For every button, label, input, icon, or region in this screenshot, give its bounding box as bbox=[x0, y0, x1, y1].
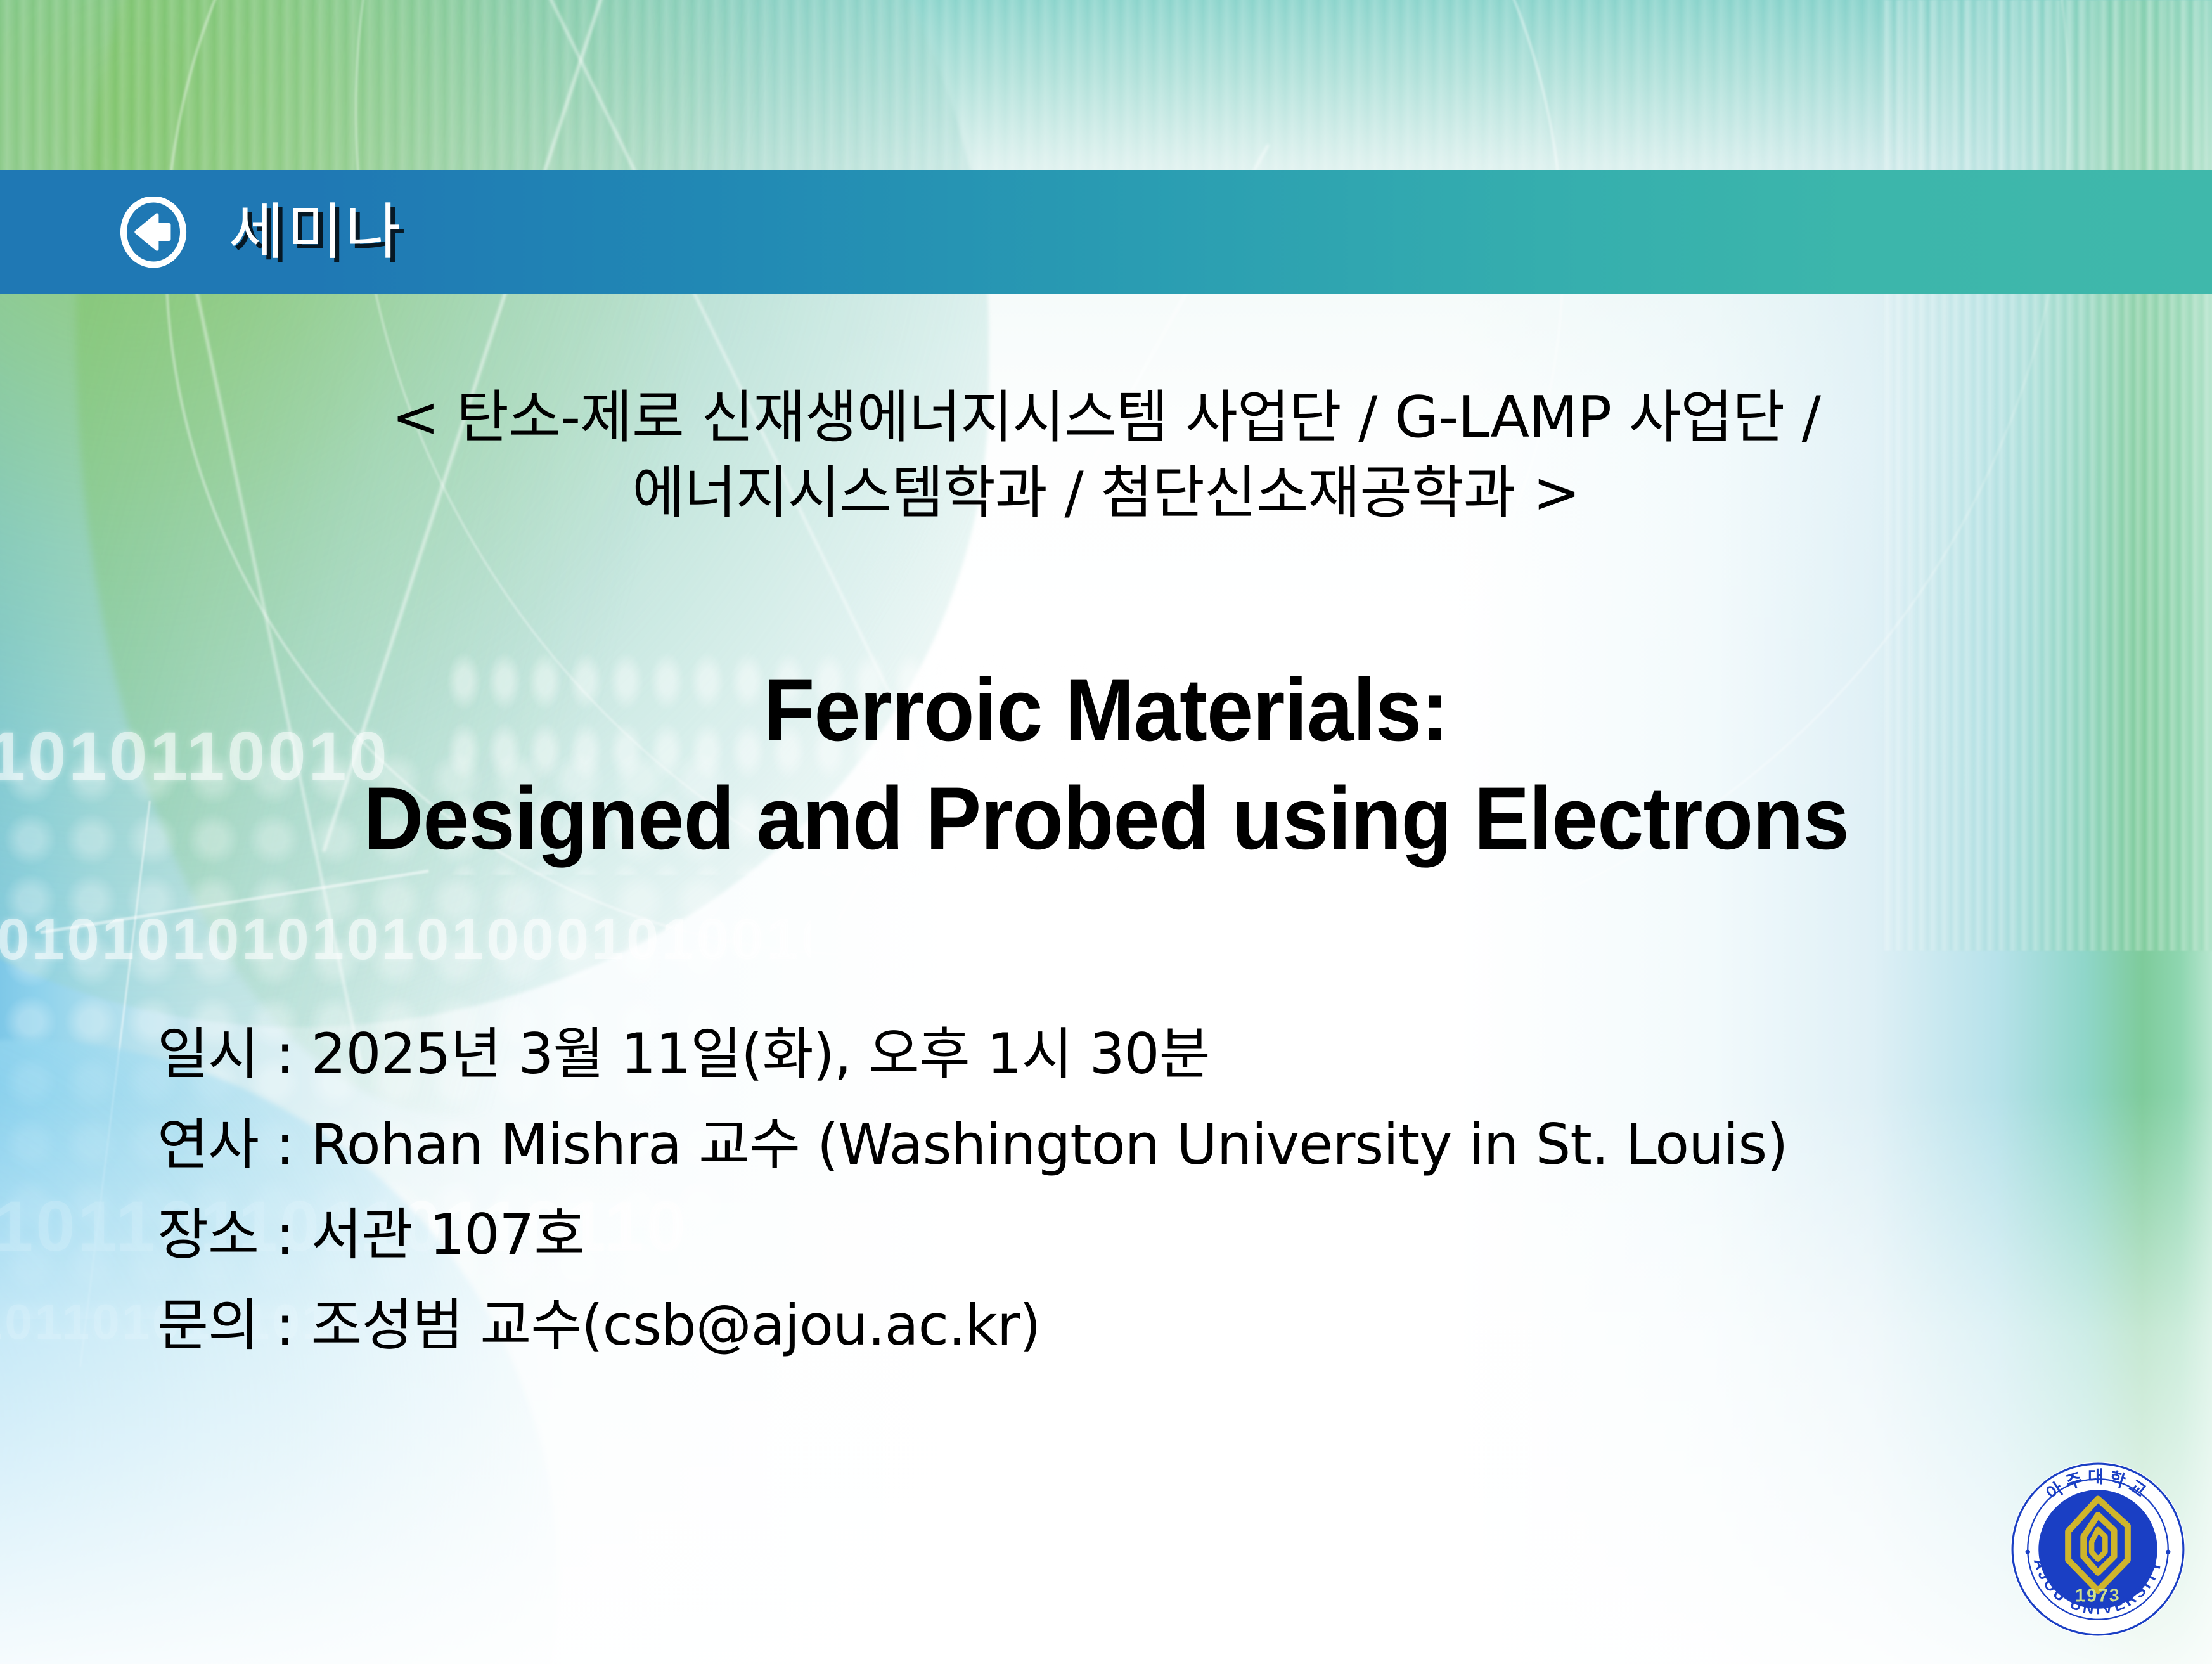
logo-dot-right bbox=[2166, 1550, 2170, 1554]
seminar-title-line-2: Designed and Probed using Electrons bbox=[67, 764, 2146, 873]
seminar-details: 일시 : 2025년 3월 11일(화), 오후 1시 30분 연사 : Roh… bbox=[157, 1009, 1788, 1371]
organizers-line: < 탄소-제로 신재생에너지시스템 사업단 / G-LAMP 사업단 / 에너지… bbox=[0, 380, 2212, 531]
back-arrow-circle-icon[interactable] bbox=[118, 197, 189, 268]
logo-dot-left bbox=[2026, 1550, 2030, 1554]
header-bar: 세미나 bbox=[0, 170, 2212, 294]
detail-location: 장소 : 서관 107호 bbox=[157, 1190, 1788, 1280]
seminar-title: Ferroic Materials: Designed and Probed u… bbox=[67, 656, 2146, 873]
detail-speaker: 연사 : Rohan Mishra 교수 (Washington Univers… bbox=[157, 1100, 1788, 1190]
header-title: 세미나 bbox=[228, 202, 404, 262]
detail-contact: 문의 : 조성범 교수(csb@ajou.ac.kr) bbox=[157, 1280, 1788, 1371]
organizers-line-2: 에너지시스템학과 / 첨단신소재공학과 > bbox=[632, 460, 1579, 526]
detail-datetime: 일시 : 2025년 3월 11일(화), 오후 1시 30분 bbox=[157, 1009, 1788, 1100]
seminar-title-line-1: Ferroic Materials: bbox=[67, 656, 2146, 764]
seminar-poster: 1010110010 10101010101010100010100101001… bbox=[0, 0, 2212, 1664]
organizers-line-1: < 탄소-제로 신재생에너지시스템 사업단 / G-LAMP 사업단 / bbox=[392, 384, 1820, 451]
binary-row: 10101010101010100010100101001 bbox=[0, 906, 811, 973]
top-light-streaks bbox=[0, 0, 2212, 171]
ajou-university-logo: 1973 아주대학교 AJOU UNIVERSITY bbox=[2008, 1459, 2188, 1639]
